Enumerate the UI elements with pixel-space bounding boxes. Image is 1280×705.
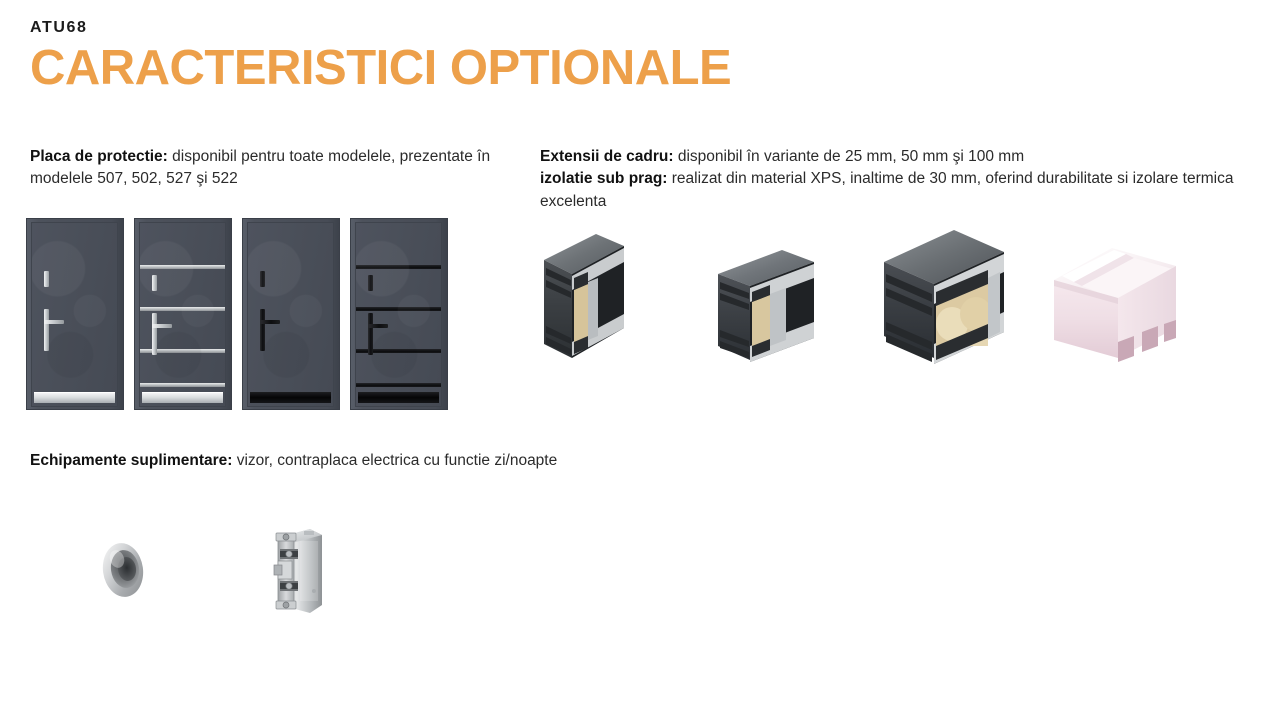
decor-strip [356,307,441,311]
door-viewer-peephole [95,537,155,603]
door-plain-silver [26,218,124,410]
lock-cylinder-icon [152,275,157,291]
door-handle-bar [44,309,49,351]
door-striped-black [350,218,448,410]
kick-plate [250,392,331,403]
frame-extension-100mm [876,226,1016,376]
electric-strike-plate [270,525,326,617]
decor-strip [140,307,225,311]
decor-strip [140,383,225,387]
frame-extension-body: disponibil în variante de 25 mm, 50 mm ş… [674,148,1025,165]
protection-plate-label: Placa de protectie: [30,148,168,165]
frame-extension-line: Extensii de cadru: disponibil în variant… [540,146,1260,168]
profile-gallery [540,226,1240,386]
lock-cylinder-icon [368,275,373,291]
door-leaf [31,222,118,407]
page-title: CARACTERISTICI OPTIONALE [30,44,731,93]
frame-extension-label: Extensii de cadru: [540,148,674,165]
kick-plate [34,392,115,403]
extra-equipment-label: Echipamente suplimentare: [30,452,232,469]
protection-plate-text: Placa de protectie: disponibil pentru to… [30,146,500,191]
door-striped-silver [134,218,232,410]
threshold-insulation-line: izolatie sub prag: realizat din material… [540,168,1260,213]
door-handle-lever [368,324,388,328]
accessory-gallery [95,525,495,625]
door-handle-bar [368,313,373,355]
door-leaf [139,222,226,407]
extra-equipment-body: vizor, contraplaca electrica cu functie … [232,452,557,469]
kick-plate [358,392,439,403]
door-handle-bar [260,309,265,351]
door-leaf [355,222,442,407]
lock-cylinder-icon [260,271,265,287]
threshold-insulation-label: izolatie sub prag: [540,170,667,187]
lock-cylinder-icon [44,271,49,287]
slide-root: ATU68 CARACTERISTICI OPTIONALE Placa de … [0,0,1280,705]
kick-plate [142,392,223,403]
decor-strip [140,265,225,269]
door-handle-bar [152,313,157,355]
frame-extension-25mm [540,232,630,372]
door-gallery [26,218,448,410]
frame-extension-text: Extensii de cadru: disponibil în variant… [540,146,1260,213]
door-handle-lever [152,324,172,328]
door-plain-black [242,218,340,410]
decor-strip [356,265,441,269]
frame-extension-50mm [712,248,822,378]
decor-strip [356,383,441,387]
door-handle-lever [260,320,280,324]
xps-threshold-insulation [1048,242,1188,372]
page-kicker: ATU68 [30,19,88,37]
decor-strip [140,349,225,353]
door-handle-lever [44,320,64,324]
decor-strip [356,349,441,353]
extra-equipment-text: Echipamente suplimentare: vizor, contrap… [30,450,790,472]
door-leaf [247,222,334,407]
